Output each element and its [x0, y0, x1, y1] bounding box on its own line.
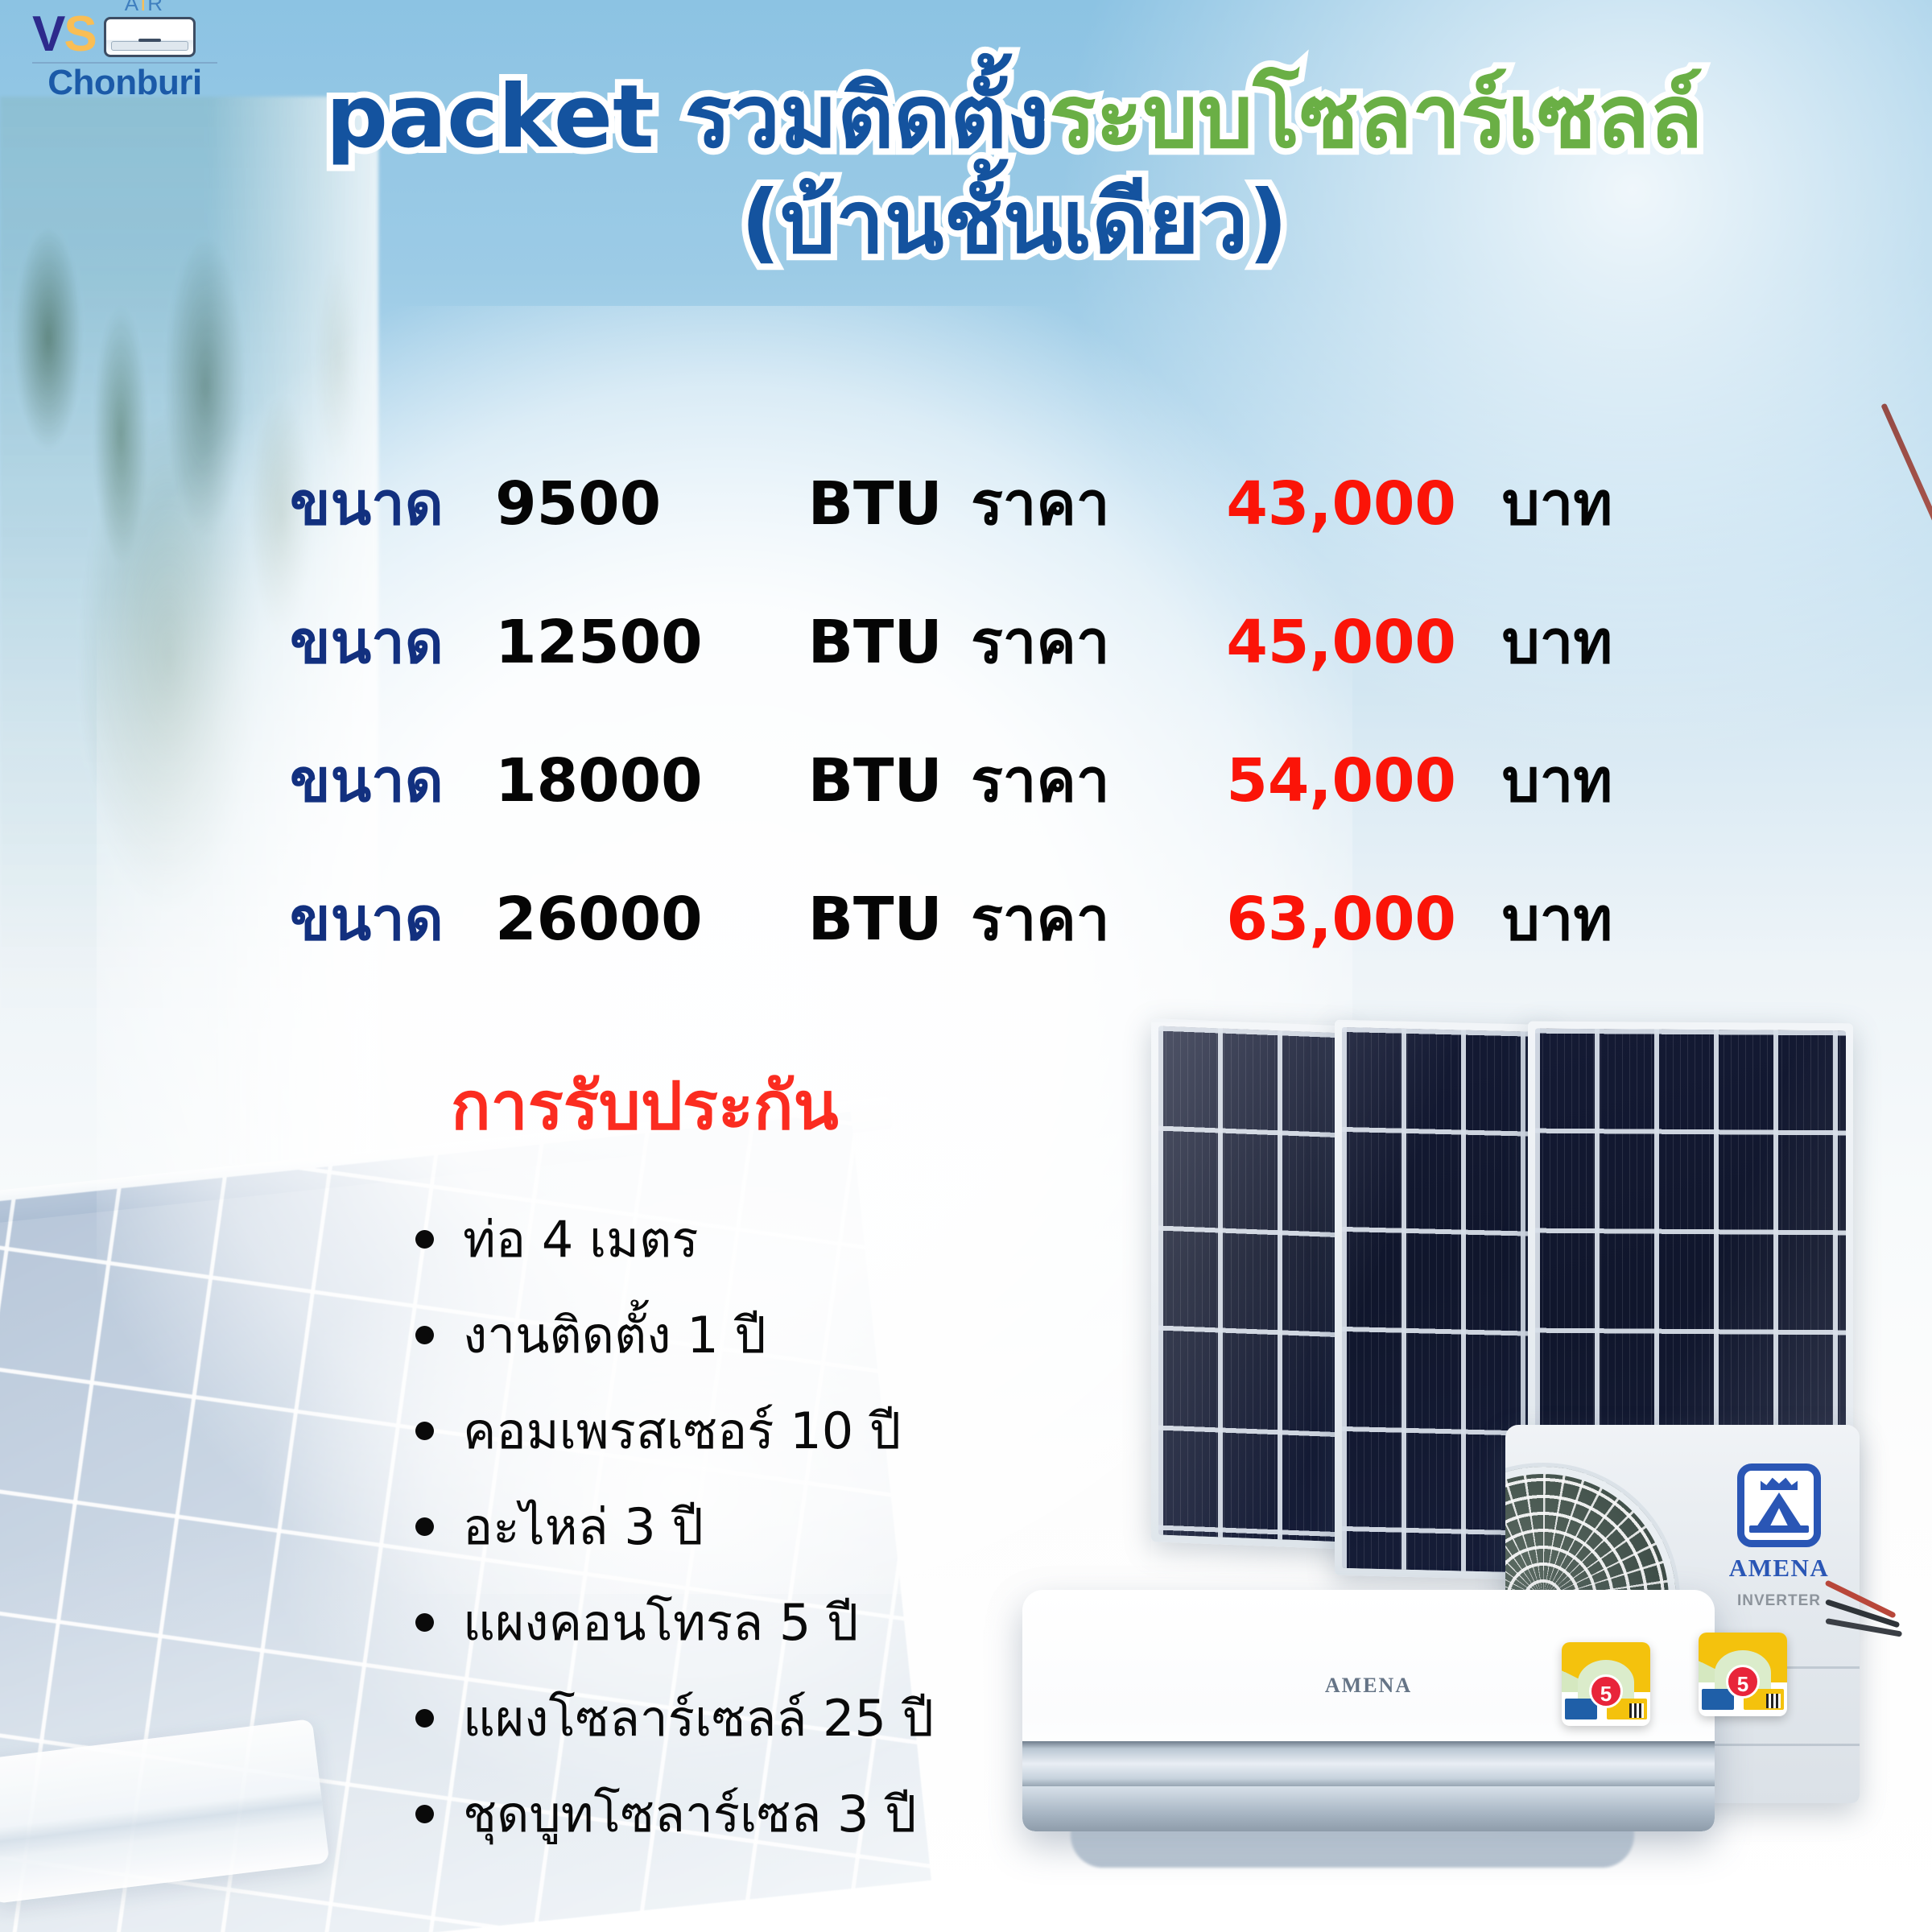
amena-brand-text: AMENA: [1726, 1554, 1832, 1583]
warranty-item-text: แผงคอนโทรล 5 ปี: [463, 1598, 858, 1648]
warranty-item-text: อะไหล่ 3 ปี: [463, 1502, 704, 1552]
price-row-btu: 26000: [474, 850, 807, 989]
price-row: ขนาด 12500 BTU ราคา 45,000 บาท: [290, 573, 1658, 712]
logo-air-letter-i: I: [140, 0, 147, 15]
price-row-price-label: ราคา: [956, 850, 1205, 989]
amena-crown-logo-icon: [1737, 1463, 1821, 1547]
price-row-btu: 9500: [474, 435, 807, 573]
connection-wires: [1826, 1571, 1922, 1668]
logo-air-text: AIR: [125, 0, 164, 16]
solar-panel: [1151, 1018, 1352, 1550]
price-row-size-label: ขนาด: [290, 573, 474, 712]
amena-badge: AMENA INVERTER: [1726, 1463, 1832, 1610]
price-row-size-label: ขนาด: [290, 850, 474, 989]
letter-a-shape: [1755, 1492, 1803, 1529]
inverter-label: INVERTER: [1726, 1592, 1832, 1610]
bullet-icon: [415, 1326, 434, 1344]
indoor-unit-lip: [1022, 1786, 1715, 1831]
warranty-item-text: งานติดตั้ง 1 ปี: [463, 1311, 766, 1360]
logo-letter-v: V: [32, 6, 64, 62]
bullet-icon: [415, 1517, 434, 1536]
price-row-unit: BTU: [808, 850, 957, 989]
price-row-unit: BTU: [808, 573, 957, 712]
title-line-1-green: ระบบโซลาร์เซลล์: [1049, 67, 1703, 167]
indoor-unit-shadow: [1071, 1826, 1634, 1868]
logo-letter-s: S: [64, 6, 95, 62]
price-row: ขนาด 18000 BTU ราคา 54,000 บาท: [290, 712, 1658, 850]
list-item: คอมเพรสเซอร์ 10 ปี: [415, 1383, 1269, 1479]
air-louver: [1022, 1741, 1715, 1788]
title-line-2-blue: (บ้านชั้นเดียว): [741, 172, 1288, 273]
price-row-currency: บาท: [1484, 435, 1658, 573]
title-line-1-blue: packet รวมติดตั้ง: [326, 67, 1050, 167]
price-row-unit: BTU: [808, 712, 957, 850]
price-row: ขนาด 26000 BTU ราคา 63,000 บาท: [290, 850, 1658, 989]
qr-code-icon: [1766, 1694, 1781, 1708]
price-row-price: 63,000: [1205, 850, 1484, 989]
air-conditioner-icon: [104, 17, 196, 57]
title-line-2: (บ้านชั้นเดียว): [145, 175, 1884, 272]
logo-ac-group: AIR: [104, 14, 199, 57]
price-row-price: 45,000: [1205, 573, 1484, 712]
warranty-item-text: แผงโซลาร์เซลล์ 25 ปี: [463, 1694, 934, 1744]
price-row-unit: BTU: [808, 435, 957, 573]
warranty-item-text: ท่อ 4 เมตร: [463, 1215, 699, 1265]
promo-poster: VS AIR Chonburi packet รวมติดตั้งระบบโซล…: [0, 0, 1932, 1932]
letter-a-base: [1749, 1525, 1809, 1533]
price-row-currency: บาท: [1484, 712, 1658, 850]
qr-code-icon: [1629, 1703, 1644, 1718]
list-item: อะไหล่ 3 ปี: [415, 1479, 1269, 1575]
logo-air-letter-a: A: [125, 0, 140, 15]
price-row-price-label: ราคา: [956, 435, 1205, 573]
poster-title: packet รวมติดตั้งระบบโซลาร์เซลล์ (บ้านชั…: [145, 69, 1884, 272]
solar-panel-cells: [1158, 1026, 1345, 1542]
energy-label-rating: 5: [1726, 1665, 1760, 1699]
price-row-btu: 18000: [474, 712, 807, 850]
crown-icon: [1761, 1477, 1798, 1490]
bullet-icon: [415, 1709, 434, 1728]
logo-vs-text: VS: [32, 11, 96, 57]
warranty-item-text: คอมเพรสเซอร์ 10 ปี: [463, 1406, 901, 1456]
logo-air-letter-r: R: [147, 0, 164, 15]
bullet-icon: [415, 1230, 434, 1249]
list-item: ท่อ 4 เมตร: [415, 1191, 1269, 1287]
warranty-item-text: ชุดบูทโซลาร์เซล 3 ปี: [463, 1790, 917, 1839]
energy-label-sticker: 5: [1562, 1642, 1650, 1726]
price-row-price: 43,000: [1205, 435, 1484, 573]
bullet-icon: [415, 1805, 434, 1823]
price-table: ขนาด 9500 BTU ราคา 43,000 บาท ขนาด 12500…: [290, 435, 1658, 989]
energy-label-rating: 5: [1589, 1674, 1623, 1708]
price-row-currency: บาท: [1484, 573, 1658, 712]
bullet-icon: [415, 1613, 434, 1632]
list-item: งานติดตั้ง 1 ปี: [415, 1287, 1269, 1383]
price-row-price-label: ราคา: [956, 573, 1205, 712]
price-row-btu: 12500: [474, 573, 807, 712]
amena-indoor-brand-text: AMENA: [1325, 1674, 1412, 1698]
price-row-price: 54,000: [1205, 712, 1484, 850]
energy-label-sticker: 5: [1699, 1633, 1787, 1716]
price-row-size-label: ขนาด: [290, 712, 474, 850]
price-row-size-label: ขนาด: [290, 435, 474, 573]
price-row-currency: บาท: [1484, 850, 1658, 989]
title-line-1: packet รวมติดตั้งระบบโซลาร์เซลล์: [145, 69, 1884, 167]
bullet-icon: [415, 1422, 434, 1440]
price-row-price-label: ราคา: [956, 712, 1205, 850]
price-row: ขนาด 9500 BTU ราคา 43,000 บาท: [290, 435, 1658, 573]
warranty-heading: การรับประกัน: [451, 1074, 839, 1140]
